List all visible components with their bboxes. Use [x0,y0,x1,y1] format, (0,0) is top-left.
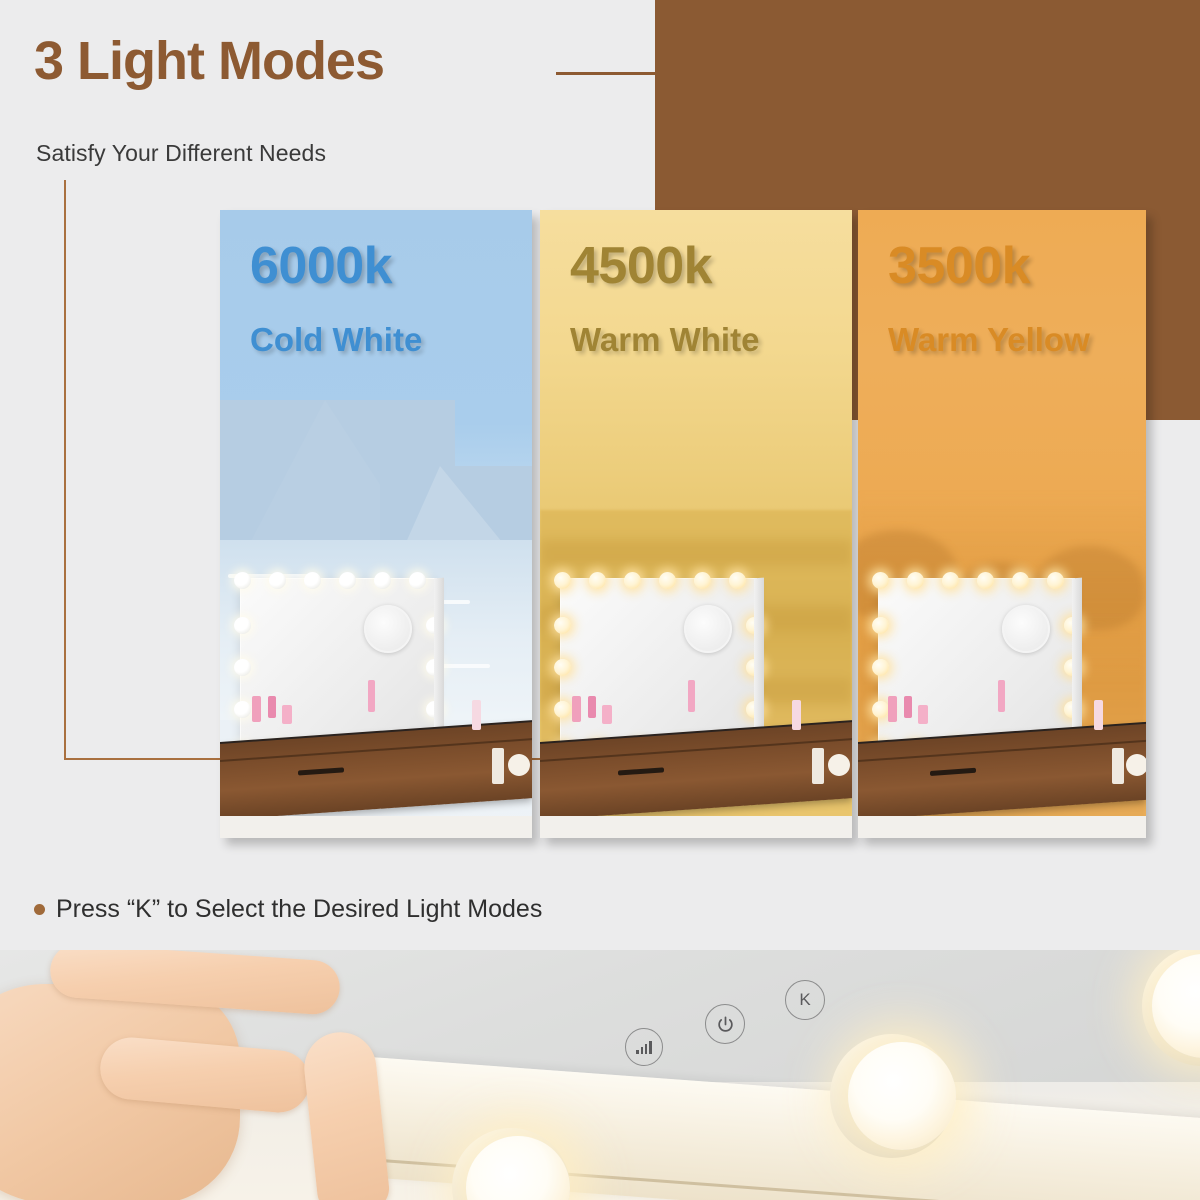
cosmetic-prop [588,696,596,718]
cosmetic-prop [998,680,1005,712]
instruction-note: Press “K” to Select the Desired Light Mo… [34,895,542,924]
cosmetic-prop [492,748,504,784]
mirror-side-edge [1072,578,1082,751]
floor [220,816,532,838]
cosmetic-prop [472,700,481,730]
vanity-mirror-photo-warm-white [540,538,852,838]
cosmetic-prop [792,700,801,730]
flower-prop [508,754,530,776]
cosmetic-prop [904,696,912,718]
bullet-dot-icon [34,904,45,915]
light-mode-card-cold-white: 6000k Cold White [220,210,532,838]
mirror-side-edge [754,578,764,751]
light-mode-card-warm-white: 4500k Warm White [540,210,852,838]
mode-temperature-warm-yellow: 3500k [888,240,1030,292]
magnifying-mirror-icon [684,605,732,653]
mode-temperature-cold-white: 6000k [250,240,392,292]
cosmetic-prop [572,696,581,722]
cosmetic-prop [602,705,612,724]
cosmetic-prop [1112,748,1124,784]
mode-temperature-warm-white: 4500k [570,240,712,292]
floor [858,816,1146,838]
cosmetic-prop [282,705,292,724]
k-key-label: K [799,990,810,1010]
cosmetic-prop [1094,700,1103,730]
mode-name-warm-yellow: Warm Yellow [888,323,1090,356]
light-mode-card-warm-yellow: 3500k Warm Yellow [858,210,1146,838]
brightness-bars-icon [636,1040,652,1054]
touch-control-photo: K [0,950,1200,1200]
power-touch-key[interactable] [705,1004,745,1044]
cosmetic-prop [888,696,897,722]
magnifying-mirror-icon [1002,605,1050,653]
mirror-side-edge [434,578,444,751]
cosmetic-prop [688,680,695,712]
vanity-mirror-photo-warm-yellow [858,538,1146,838]
instruction-text: Press “K” to Select the Desired Light Mo… [56,895,542,924]
mode-name-warm-white: Warm White [570,323,759,356]
flower-prop [828,754,850,776]
flower-prop [1126,754,1146,776]
cosmetic-prop [252,696,261,722]
floor [540,816,852,838]
page-subtitle: Satisfy Your Different Needs [36,140,326,167]
light-mode-panels: 6000k Cold White [0,210,1200,850]
power-icon [716,1015,735,1034]
title-rule-divider [556,72,656,75]
color-temperature-touch-key[interactable]: K [785,980,825,1020]
page-title: 3 Light Modes [34,34,384,88]
cosmetic-prop [368,680,375,712]
mode-name-cold-white: Cold White [250,323,422,356]
hand-photo [0,950,460,1200]
brightness-touch-key[interactable] [625,1028,663,1066]
vanity-mirror-photo-cold [220,538,532,838]
cosmetic-prop [268,696,276,718]
second-hand-finger [301,1029,391,1200]
magnifying-mirror-icon [364,605,412,653]
cosmetic-prop [918,705,928,724]
glowing-bulb-center [848,1042,956,1150]
cosmetic-prop [812,748,824,784]
